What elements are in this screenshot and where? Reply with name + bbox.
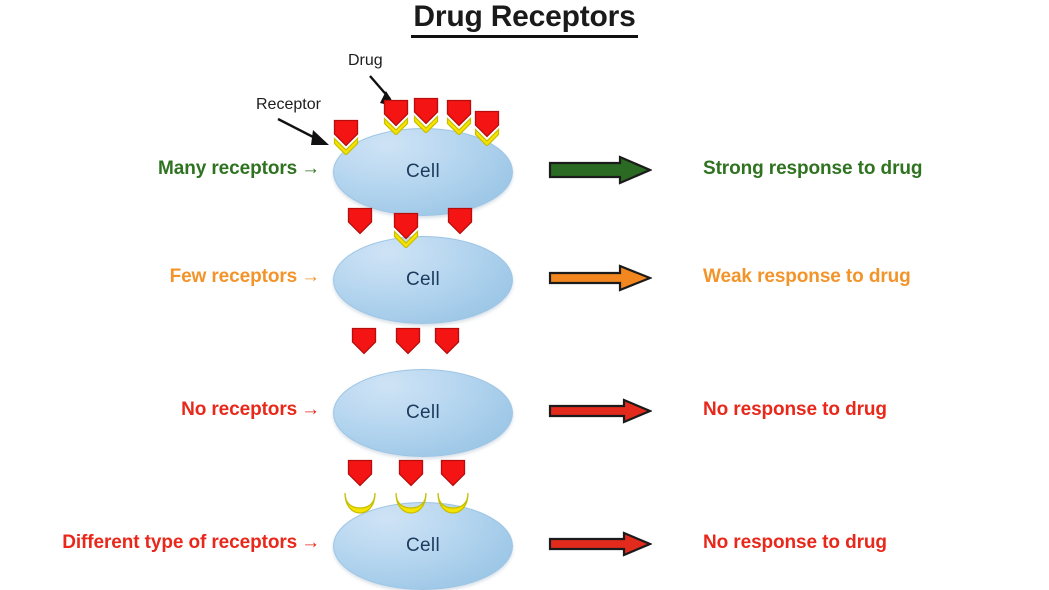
receptor-callout-arrow-icon [275,116,337,155]
arrow-no-response-2 [548,529,652,559]
drug-icon [440,459,466,489]
arrow-strong-response [548,155,652,185]
row-label-left-2: No receptors→ [181,399,320,421]
drug-icon [395,327,421,357]
row-label-arrow-glyph-0: → [297,158,320,179]
row-label-left-text-1: Few receptors [170,266,298,287]
drug-icon [347,207,373,237]
receptor-callout-label: Receptor [256,96,321,114]
row-label-right-2: No response to drug [703,399,887,421]
row-label-arrow-glyph-2: → [297,399,320,420]
cell-label-1: Cell [406,269,440,291]
row-label-left-text-2: No receptors [181,399,297,420]
drug-callout-label: Drug [348,52,383,70]
cell-label-3: Cell [406,535,440,557]
arrow-no-response-1 [548,396,652,426]
drug-icon [398,459,424,489]
row-label-left-text-3: Different type of receptors [62,532,297,553]
receptor-icon [436,491,470,515]
row-label-left-1: Few receptors→ [170,266,320,288]
receptor-icon [446,117,472,135]
drug-icon [434,327,460,357]
row-label-right-1: Weak response to drug [703,266,911,288]
receptor-icon [343,491,377,515]
arrow-weak-response [548,263,652,293]
drug-icon [447,207,473,237]
page-title: Drug Receptors [0,0,1049,38]
receptor-icon [474,128,500,146]
drug-icon [347,459,373,489]
receptor-icon [394,491,428,515]
row-label-left-text-0: Many receptors [158,158,297,179]
receptor-icon [383,117,409,135]
page-title-text: Drug Receptors [411,0,637,38]
row-label-arrow-glyph-3: → [297,532,320,553]
receptor-icon [413,115,439,133]
row-label-arrow-glyph-1: → [297,266,320,287]
cell-shape-2: Cell [333,369,513,457]
row-label-left-0: Many receptors→ [158,158,320,180]
cell-shape-1: Cell [333,236,513,324]
cell-shape-3: Cell [333,502,513,590]
row-label-left-3: Different type of receptors→ [62,532,320,554]
cell-label-2: Cell [406,402,440,424]
row-label-right-3: No response to drug [703,532,887,554]
receptor-icon [333,137,359,155]
row-label-right-0: Strong response to drug [703,158,922,180]
diagram-canvas: Drug Receptors Drug Receptor Many recept… [0,0,1049,585]
drug-icon [351,327,377,357]
receptor-icon [393,230,419,248]
cell-label-0: Cell [406,161,440,183]
